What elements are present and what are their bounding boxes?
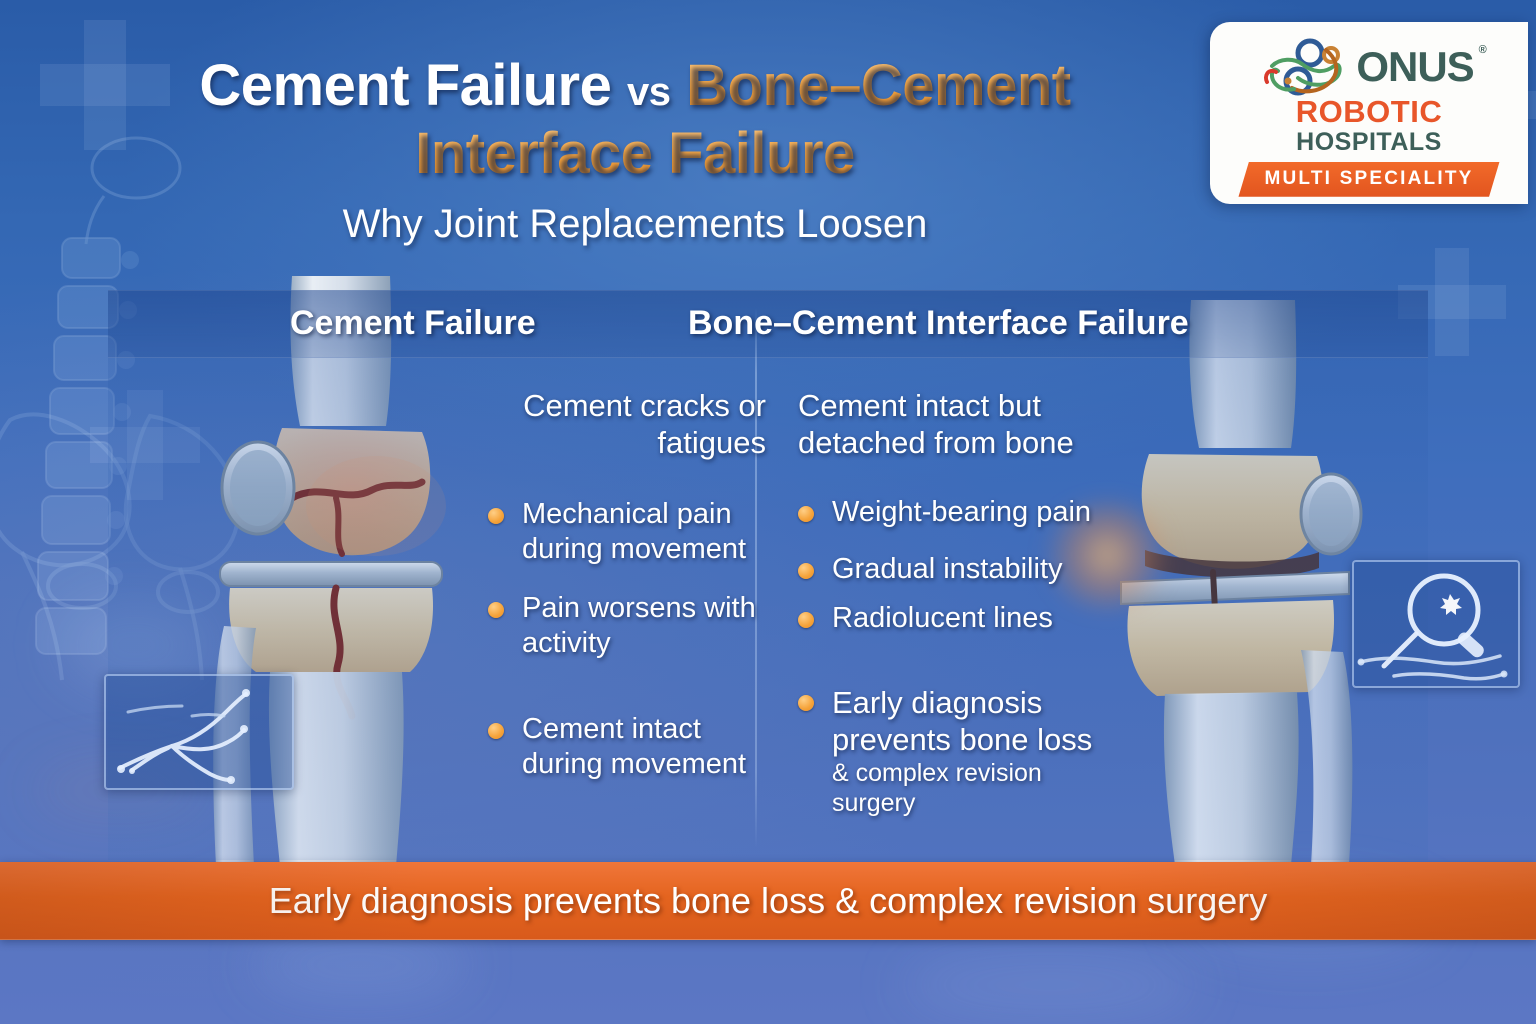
bullet-dot-icon bbox=[798, 695, 814, 711]
list-item-highlight: Early diagnosis prevents bone loss & com… bbox=[798, 684, 1128, 818]
list-item: Weight-bearing pain bbox=[798, 495, 1128, 530]
crack-lines-icon bbox=[106, 676, 294, 790]
list-item: Mechanical pain during movement bbox=[488, 497, 766, 567]
left-column-content: Cement cracks or fatigues Mechanical pai… bbox=[476, 388, 766, 782]
left-lead-text: Cement cracks or fatigues bbox=[476, 388, 766, 461]
list-item-label: Cement intact during movement bbox=[522, 713, 746, 780]
left-bullet-list: Mechanical pain during movement Pain wor… bbox=[488, 497, 766, 782]
title-line-1: Cement Failure vs Bone–Cement bbox=[90, 52, 1180, 120]
inset-cement-crack-diagram bbox=[104, 674, 294, 790]
list-item-label: Weight-bearing pain bbox=[832, 496, 1091, 528]
bottom-cta-banner: Early diagnosis prevents bone loss & com… bbox=[0, 862, 1536, 940]
brand-logo-card[interactable]: ONUS® ROBOTIC HOSPITALS MULTI SPECIALITY bbox=[1210, 22, 1528, 204]
list-item: Radiolucent lines bbox=[798, 601, 1128, 636]
title-bone-cement: Bone–Cement bbox=[686, 53, 1070, 118]
banner-message: Early diagnosis prevents bone loss & com… bbox=[269, 880, 1267, 922]
poster-subtitle: Why Joint Replacements Loosen bbox=[90, 202, 1180, 247]
bullet-dot-icon bbox=[798, 506, 814, 522]
infographic-poster: Cement Failure vs Bone–Cement Interface … bbox=[0, 0, 1536, 1024]
list-item-label: Mechanical pain during movement bbox=[522, 498, 746, 565]
right-bullet-list: Weight-bearing pain Gradual instability … bbox=[798, 495, 1128, 818]
logo-multi-speciality-banner: MULTI SPECIALITY bbox=[1238, 162, 1499, 197]
inset-radiolucent-line-diagram bbox=[1352, 560, 1520, 688]
comparison-panel: Cement Failure Bone–Cement Interface Fai… bbox=[108, 290, 1428, 860]
title-interface-failure: Interface Failure bbox=[415, 121, 855, 186]
list-item: Cement intact during movement bbox=[488, 712, 766, 782]
logo-top-row: ONUS® bbox=[1264, 36, 1473, 98]
column-heading-interface-failure: Bone–Cement Interface Failure bbox=[688, 304, 1189, 343]
bullet-dot-icon bbox=[798, 563, 814, 579]
list-item-label: Early diagnosis prevents bone loss bbox=[832, 685, 1092, 757]
bullet-dot-icon bbox=[798, 612, 814, 628]
bullet-dot-icon bbox=[488, 602, 504, 618]
right-column-content: Cement intact but detached from bone Wei… bbox=[798, 388, 1128, 818]
poster-header: Cement Failure vs Bone–Cement Interface … bbox=[0, 0, 1536, 290]
right-lead-text: Cement intact but detached from bone bbox=[798, 388, 1128, 461]
list-item-label: Radiolucent lines bbox=[832, 602, 1053, 634]
magnifier-icon bbox=[1354, 562, 1520, 688]
logo-onus-word: ONUS bbox=[1356, 43, 1473, 90]
title-cement-failure: Cement Failure bbox=[199, 53, 611, 118]
title-block: Cement Failure vs Bone–Cement Interface … bbox=[90, 52, 1180, 247]
logo-hospitals-text: HOSPITALS bbox=[1296, 129, 1442, 155]
column-heading-cement-failure: Cement Failure bbox=[290, 304, 536, 343]
title-vs: vs bbox=[627, 70, 671, 114]
list-item: Gradual instability bbox=[798, 552, 1128, 587]
list-item-subnote: & complex revision surgery bbox=[832, 758, 1128, 818]
list-item: Pain worsens with activity bbox=[488, 591, 766, 661]
bullet-dot-icon bbox=[488, 723, 504, 739]
bullet-dot-icon bbox=[488, 508, 504, 524]
logo-robotic-text: ROBOTIC bbox=[1296, 96, 1442, 129]
logo-registered-mark: ® bbox=[1479, 45, 1486, 55]
list-item-label: Pain worsens with activity bbox=[522, 592, 756, 659]
onus-logo-mark-icon bbox=[1264, 36, 1350, 98]
list-item-label: Gradual instability bbox=[832, 553, 1063, 585]
logo-onus-text: ONUS® bbox=[1356, 47, 1473, 87]
title-line-2: Interface Failure bbox=[90, 120, 1180, 188]
